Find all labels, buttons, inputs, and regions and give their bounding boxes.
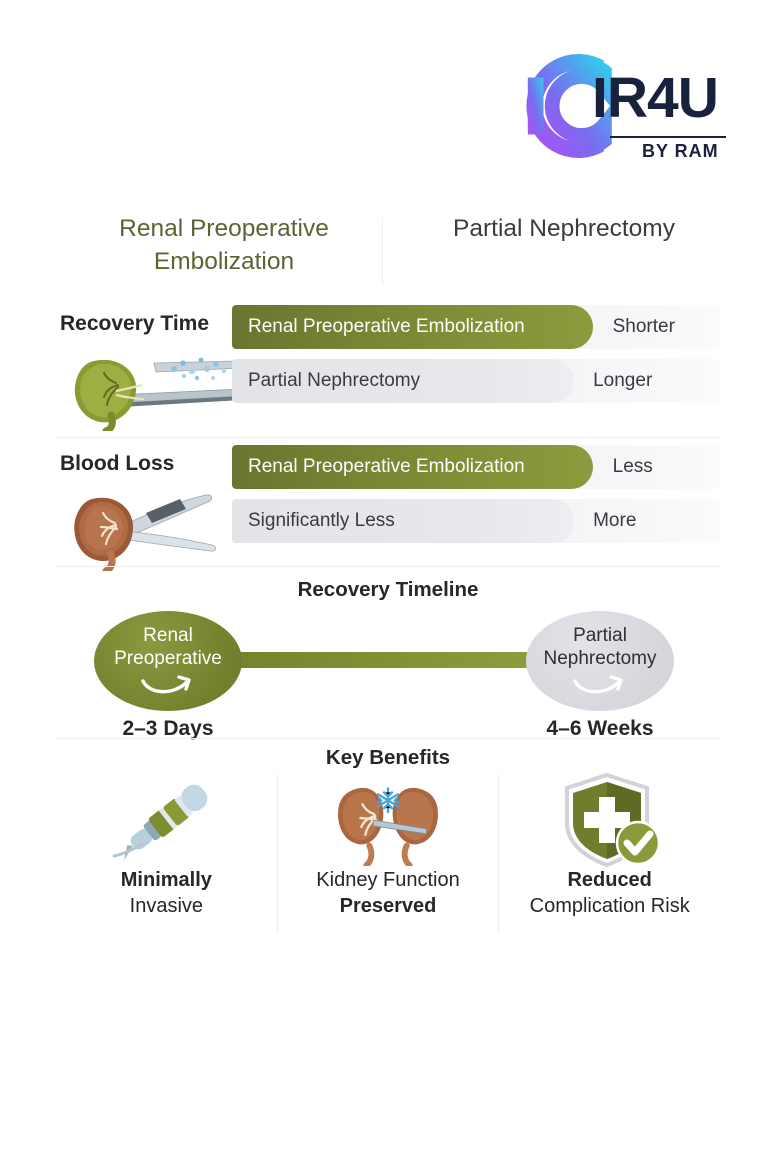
- timeline-node-label: Renal Preoperative: [94, 625, 242, 671]
- infographic-page: IR4U BY RAM Renal Preoperative Embolizat…: [0, 0, 768, 1152]
- logo-rule: [610, 136, 726, 138]
- kidneys-cryoprobe-icon: [324, 774, 452, 866]
- header-right-title: Partial Nephrectomy: [408, 213, 720, 246]
- header-left-title: Renal Preoperative Embolization: [64, 213, 384, 278]
- comparison-row-recovery-time: Recovery Time: [56, 305, 720, 435]
- section-divider: [56, 437, 720, 438]
- scalpel-needle-icon: [102, 774, 230, 866]
- benefit-label-line1: Kidney Function: [316, 868, 459, 894]
- header-divider: [382, 217, 383, 285]
- timeline-title: Recovery Timeline: [56, 578, 720, 602]
- curved-arrow-icon: [571, 675, 629, 697]
- bar-value: Longer: [593, 359, 652, 403]
- benefits-title: Key Benefits: [56, 746, 720, 770]
- section-divider: [56, 738, 720, 739]
- shield-check-icon: [546, 774, 674, 866]
- benefit-item-reduced-complication-risk: Reduced Complication Risk: [498, 774, 720, 932]
- recovery-timeline-section: Recovery Timeline Renal Preoperative Par…: [56, 570, 720, 735]
- bar-value: More: [593, 499, 636, 543]
- timeline-node-nephrectomy: Partial Nephrectomy: [526, 611, 674, 711]
- bar-group: Renal Preoperative Embolization Shorter …: [232, 305, 720, 413]
- logo-wordmark: IR4U: [592, 70, 718, 127]
- brand-logo: IR4U BY RAM: [512, 48, 728, 166]
- row-label: Blood Loss: [60, 452, 245, 476]
- benefit-item-minimally-invasive: Minimally Invasive: [56, 774, 277, 932]
- timeline-node-label: Partial Nephrectomy: [526, 625, 674, 671]
- kidney-with-forceps-icon: [56, 483, 246, 571]
- bar-track: Renal Preoperative Embolization Shorter: [232, 305, 720, 349]
- bar-value: Shorter: [613, 305, 675, 349]
- comparison-headers: Renal Preoperative Embolization Partial …: [56, 213, 720, 293]
- bar-group: Renal Preoperative Embolization Less Sig…: [232, 445, 720, 553]
- bar-name: Renal Preoperative Embolization: [248, 305, 525, 349]
- comparison-row-blood-loss: Blood Loss Renal Preoperative Embolizati…: [56, 445, 720, 575]
- bar-name: Significantly Less: [248, 499, 395, 543]
- bar-name: Partial Nephrectomy: [248, 359, 420, 403]
- bar-track: Partial Nephrectomy Longer: [232, 359, 720, 403]
- benefit-item-kidney-function-preserved: Kidney Function Preserved: [277, 774, 499, 932]
- benefit-label-line1: Minimally: [121, 868, 212, 894]
- kidney-with-embolization-needle-icon: [56, 343, 246, 431]
- benefit-label-line2: Complication Risk: [530, 894, 690, 920]
- benefit-label-line1: Reduced: [567, 868, 651, 894]
- key-benefits-section: Key Benefits: [56, 742, 720, 932]
- section-divider: [56, 566, 720, 567]
- bar-value: Less: [613, 445, 653, 489]
- benefit-label-line2: Preserved: [340, 894, 437, 920]
- row-label: Recovery Time: [60, 312, 245, 336]
- logo-subtitle: BY RAM: [642, 141, 719, 162]
- bar-track: Significantly Less More: [232, 499, 720, 543]
- bar-track: Renal Preoperative Embolization Less: [232, 445, 720, 489]
- curved-arrow-icon: [139, 675, 197, 697]
- timeline-node-embolization: Renal Preoperative: [94, 611, 242, 711]
- benefit-label-line2: Invasive: [130, 894, 203, 920]
- bar-name: Renal Preoperative Embolization: [248, 445, 525, 489]
